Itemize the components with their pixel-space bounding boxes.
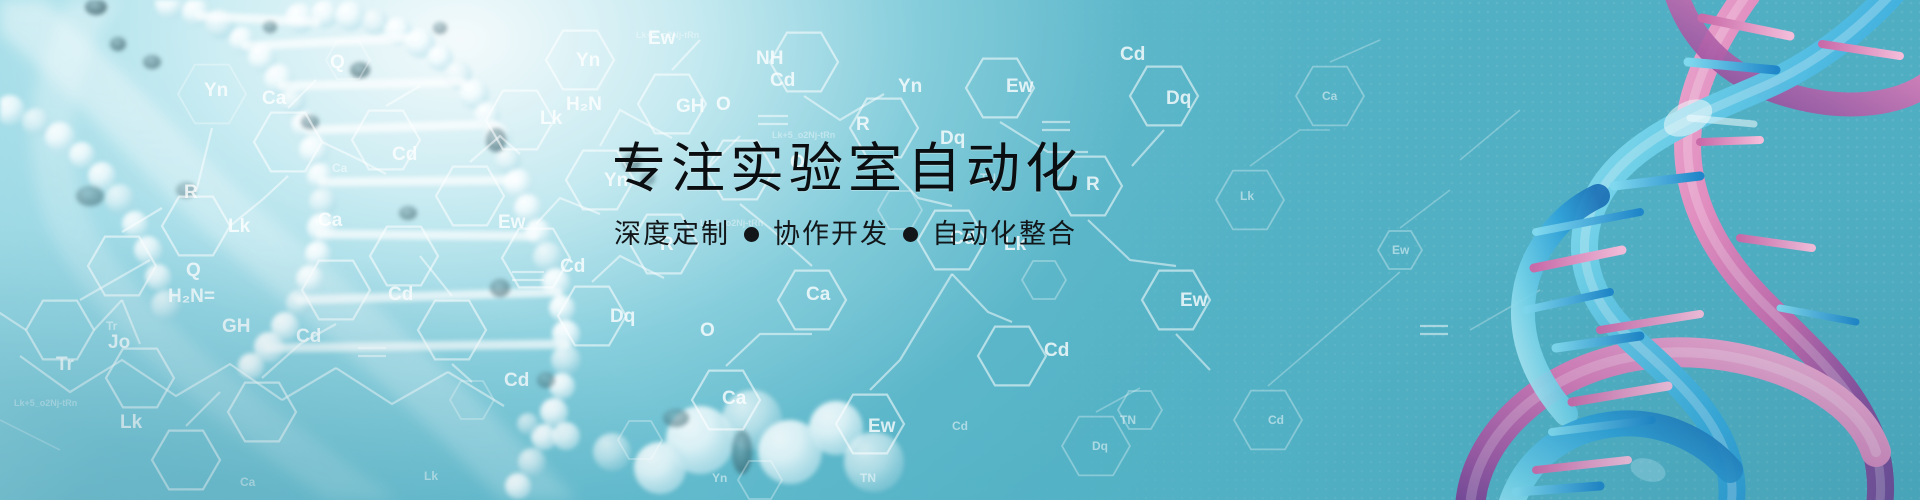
page-title: 专注实验室自动化 (612, 140, 1372, 198)
bullet-separator-icon (744, 227, 759, 242)
tagline-item-1: 深度定制 (614, 218, 730, 250)
bullet-separator-icon (903, 227, 918, 242)
tagline: 深度定制 协作开发 自动化整合 (614, 218, 1372, 250)
hero-banner: .hx { fill:none; stroke:#ffffff; stroke-… (0, 0, 1920, 500)
tagline-item-3: 自动化整合 (932, 218, 1077, 250)
tagline-item-2: 协作开发 (773, 218, 889, 250)
banner-copy-block: 专注实验室自动化 深度定制 协作开发 自动化整合 (612, 140, 1372, 251)
